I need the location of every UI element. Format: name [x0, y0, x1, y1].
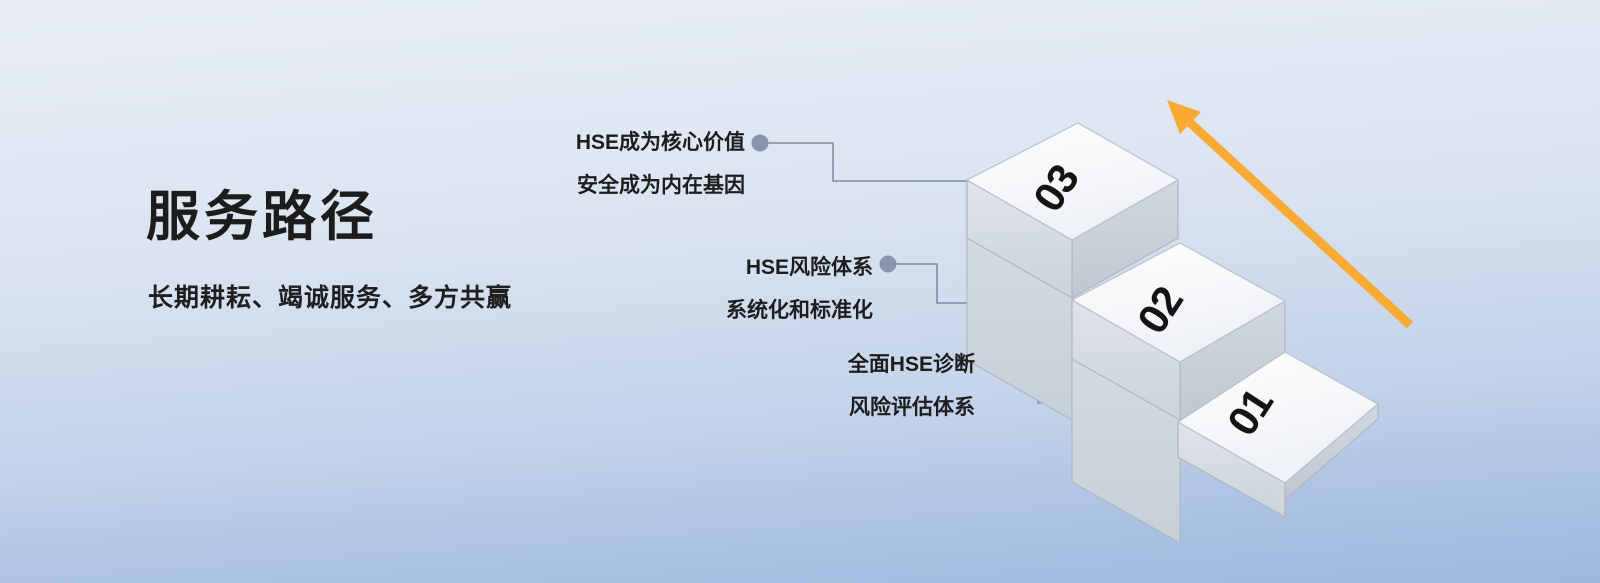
step-callout-02-line2: 系统化和标准化 — [530, 300, 873, 321]
step-callout-03: HSE成为核心价值 安全成为内在基因 — [400, 132, 745, 196]
step-callout-01-line1: 全面HSE诊断 — [848, 353, 975, 376]
step-callout-01: 全面HSE诊断 风险评估体系 — [650, 354, 975, 418]
step-callout-02: HSE风险体系 系统化和标准化 — [530, 257, 873, 321]
growth-arrow-icon — [1167, 100, 1410, 325]
step-callout-01-line2: 风险评估体系 — [650, 397, 975, 418]
step-callout-03-line1: HSE成为核心价值 — [576, 131, 745, 154]
step-callout-03-line2: 安全成为内在基因 — [400, 175, 745, 196]
slide-canvas: 03 02 01 服务路径 长期耕耘、竭诚服务、多方共赢 — [0, 0, 1600, 583]
step-callout-02-line1: HSE风险体系 — [746, 256, 873, 279]
